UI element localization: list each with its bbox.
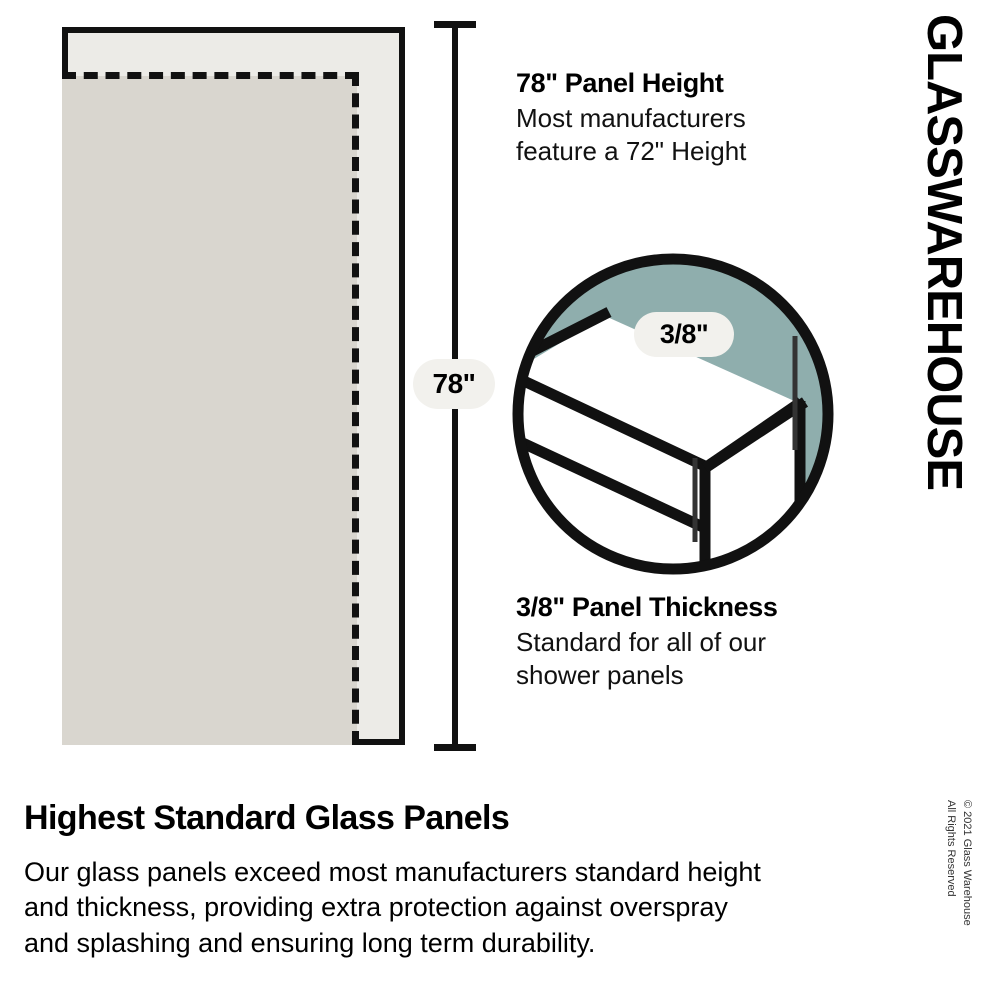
dimension-cap-bottom-icon bbox=[434, 744, 476, 751]
callout-panel-thickness-body: Standard for all of our shower panels bbox=[516, 626, 856, 692]
glass-edge-isometric-icon bbox=[505, 246, 841, 582]
copyright-notice: © 2021 Glass Warehouse All Rights Reserv… bbox=[930, 800, 982, 980]
callout-panel-height-body: Most manufacturers feature a 72" Height bbox=[516, 102, 846, 168]
bottom-copy-block: Highest Standard Glass Panels Our glass … bbox=[24, 800, 884, 961]
panel-inner-fill-region bbox=[62, 76, 357, 745]
callout-panel-thickness-title: 3/8" Panel Thickness bbox=[516, 592, 856, 622]
callout-panel-height: 78" Panel Height Most manufacturers feat… bbox=[516, 68, 846, 168]
callout-panel-thickness-body-line-2: shower panels bbox=[516, 659, 856, 692]
panel-dashed-right-line bbox=[352, 72, 359, 745]
height-dimension-label: 78" bbox=[413, 359, 495, 409]
panel-thickness-illustration: 3/8" bbox=[505, 246, 841, 582]
callout-panel-height-body-line-1: Most manufacturers bbox=[516, 102, 846, 135]
copyright-text: © 2021 Glass Warehouse All Rights Reserv… bbox=[942, 800, 974, 926]
callout-panel-thickness: 3/8" Panel Thickness Standard for all of… bbox=[516, 592, 856, 692]
page-title: Highest Standard Glass Panels bbox=[24, 800, 884, 837]
bottom-paragraph-line-2: and thickness, providing extra protectio… bbox=[24, 890, 884, 925]
callout-panel-height-body-line-2: feature a 72" Height bbox=[516, 135, 846, 168]
brand-logo-text: GLASSWAREHOUSE bbox=[919, 14, 968, 490]
bottom-paragraph-line-1: Our glass panels exceed most manufacture… bbox=[24, 855, 884, 890]
panel-dashed-top-line bbox=[62, 72, 359, 79]
bottom-paragraph: Our glass panels exceed most manufacture… bbox=[24, 855, 884, 960]
brand-logo: GLASSWAREHOUSE bbox=[913, 0, 973, 600]
glass-panel-diagram bbox=[62, 27, 405, 745]
copyright-line-1: © 2021 Glass Warehouse bbox=[958, 800, 974, 926]
height-dimension-line: 78" bbox=[425, 21, 485, 751]
callout-panel-thickness-body-line-1: Standard for all of our bbox=[516, 626, 856, 659]
callout-panel-height-title: 78" Panel Height bbox=[516, 68, 846, 98]
thickness-dimension-label: 3/8" bbox=[634, 312, 734, 357]
bottom-paragraph-line-3: and splashing and ensuring long term dur… bbox=[24, 926, 884, 961]
copyright-line-2: All Rights Reserved bbox=[942, 800, 958, 926]
